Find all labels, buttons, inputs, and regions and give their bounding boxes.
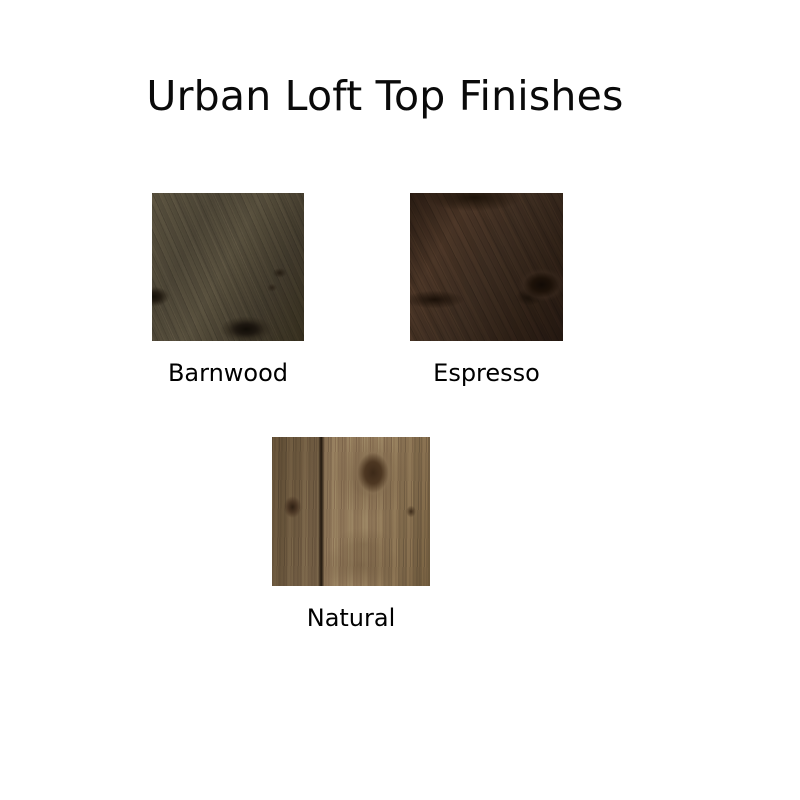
natural-grain-overlay	[272, 437, 430, 586]
natural-wood-texture-swatch[interactable]	[272, 437, 430, 586]
espresso-wood-texture-swatch[interactable]	[410, 193, 563, 341]
finish-option-barnwood[interactable]: Barnwood	[152, 193, 304, 341]
barnwood-wood-texture-swatch[interactable]	[152, 193, 304, 341]
finish-sample-board: Urban Loft Top Finishes Barnwood Espress…	[0, 0, 800, 800]
finish-option-natural[interactable]: Natural	[272, 437, 430, 586]
barnwood-grain-overlay	[152, 193, 304, 341]
finish-label-barnwood: Barnwood	[168, 359, 288, 387]
finish-label-natural: Natural	[307, 604, 396, 632]
espresso-grain-overlay	[410, 193, 563, 341]
page-title: Urban Loft Top Finishes	[0, 74, 770, 119]
finish-label-espresso: Espresso	[433, 359, 540, 387]
finish-option-espresso[interactable]: Espresso	[410, 193, 563, 341]
